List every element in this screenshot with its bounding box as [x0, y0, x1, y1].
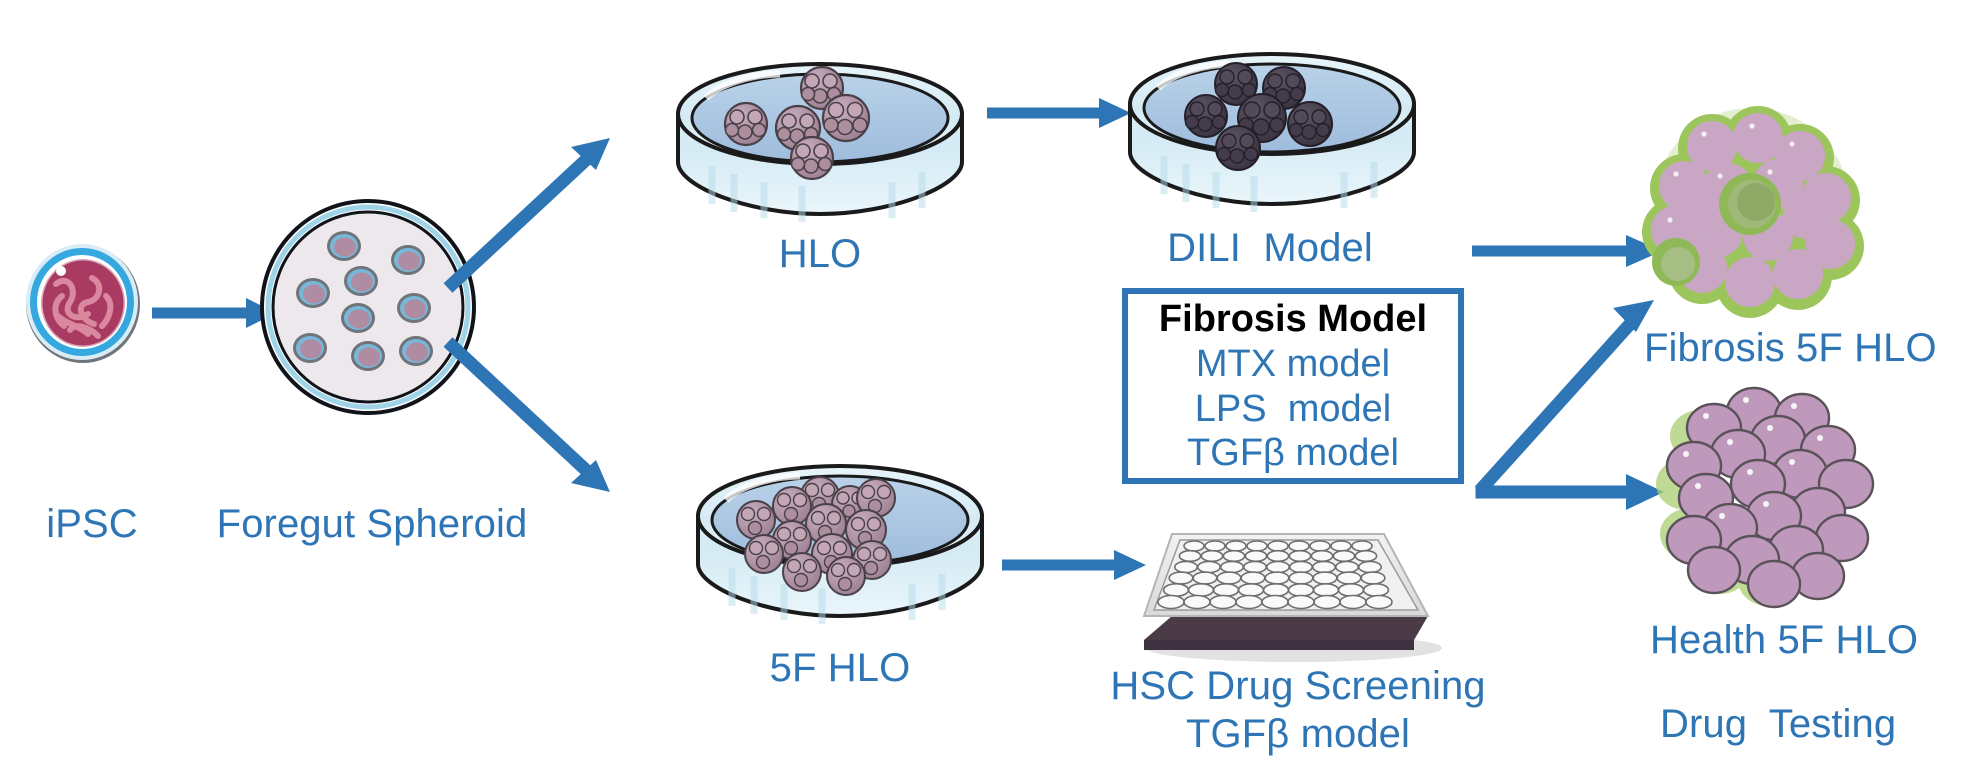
label-ipsc: iPSC [2, 502, 182, 547]
arrow-foregut-to-5f-hlo [440, 330, 640, 510]
arrow-junction-to-health-organoid [1470, 460, 1680, 530]
arrow-foregut-to-hlo [440, 120, 640, 300]
96-well-plate [1132, 520, 1452, 670]
dili-petri-dish [1112, 26, 1432, 226]
fibrosis-model-title: Fibrosis Model [1159, 298, 1427, 342]
label-hsc-tgfb-model: TGFβ model [1078, 712, 1518, 757]
label-hlo: HLO [710, 232, 930, 277]
label-health-5f-hlo: Health 5F HLO [1650, 618, 1968, 663]
fibrosis-model-item-mtx: MTX model [1196, 342, 1390, 386]
label-drug-testing: Drug Testing [1660, 702, 1968, 747]
ipsc-cell [18, 238, 148, 368]
label-foregut-spheroid: Foregut Spheroid [212, 502, 532, 547]
label-fibrosis-5f-hlo: Fibrosis 5F HLO [1644, 326, 1968, 371]
fibrosis-model-item-tgfb: TGFβ model [1187, 431, 1399, 475]
fibrosis-5f-hlo-organoid [1640, 100, 1870, 320]
label-5f-hlo: 5F HLO [700, 646, 980, 691]
diagram-canvas: HLO [0, 0, 1968, 774]
five-f-hlo-petri-dish [680, 438, 1000, 638]
arrow-5f-hlo-to-wellplate [1000, 540, 1150, 590]
hlo-petri-dish [660, 36, 980, 236]
fibrosis-model-box: Fibrosis Model MTX model LPS model TGFβ … [1122, 288, 1464, 484]
label-hsc-drug-screening: HSC Drug Screening [1078, 664, 1518, 709]
label-dili-model: DILI Model [1130, 226, 1410, 271]
health-5f-hlo-organoid [1650, 388, 1880, 603]
fibrosis-model-item-lps: LPS model [1195, 387, 1391, 431]
